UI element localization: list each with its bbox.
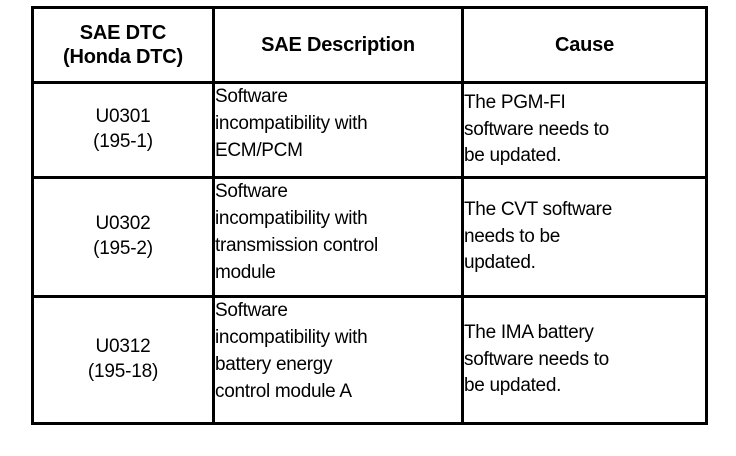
column-header-cause-line-1: Cause (464, 33, 705, 57)
sae-code: U0312 (34, 335, 212, 360)
description-line: battery energy (215, 352, 461, 379)
honda-code: (195-1) (34, 130, 212, 155)
table-header: SAE DTC (Honda DTC) SAE Description Caus… (33, 8, 707, 83)
table-body: U0301 (195-1) Software incompatibility w… (33, 83, 707, 424)
description-line: transmission control (215, 233, 461, 260)
sae-dtc-table: SAE DTC (Honda DTC) SAE Description Caus… (31, 6, 708, 425)
cause-line: software needs to (464, 347, 705, 374)
column-header-sae-description: SAE Description (214, 8, 463, 83)
description-line: incompatibility with (215, 111, 461, 138)
table-row: U0302 (195-2) Software incompatibility w… (33, 178, 707, 297)
cell-sae-description: Software incompatibility with ECM/PCM (214, 83, 463, 178)
description-line: incompatibility with (215, 325, 461, 352)
column-header-sae-dtc-line-1: SAE DTC (34, 21, 212, 45)
honda-code: (195-2) (34, 237, 212, 262)
cell-sae-dtc: U0312 (195-18) (33, 297, 214, 424)
cause-line: The CVT software (464, 197, 705, 224)
cell-sae-description: Software incompatibility with transmissi… (214, 178, 463, 297)
sae-code: U0302 (34, 212, 212, 237)
description-line: module (215, 260, 461, 287)
dtc-table-container: SAE DTC (Honda DTC) SAE Description Caus… (31, 6, 705, 422)
column-header-sae-description-line-1: SAE Description (215, 33, 461, 57)
table-header-row: SAE DTC (Honda DTC) SAE Description Caus… (33, 8, 707, 83)
cause-line: be updated. (464, 373, 705, 400)
table-row: U0312 (195-18) Software incompatibility … (33, 297, 707, 424)
description-line: incompatibility with (215, 206, 461, 233)
cell-sae-dtc: U0302 (195-2) (33, 178, 214, 297)
column-header-sae-dtc: SAE DTC (Honda DTC) (33, 8, 214, 83)
cell-cause: The PGM-FI software needs to be updated. (463, 83, 707, 178)
cause-line: The IMA battery (464, 320, 705, 347)
sae-code: U0301 (34, 105, 212, 130)
cell-sae-description: Software incompatibility with battery en… (214, 297, 463, 424)
description-line: Software (215, 298, 461, 325)
cell-sae-dtc: U0301 (195-1) (33, 83, 214, 178)
cause-line: The PGM-FI (464, 90, 705, 117)
description-line: ECM/PCM (215, 138, 461, 165)
description-line: Software (215, 179, 461, 206)
cause-line: updated. (464, 250, 705, 277)
cell-cause: The CVT software needs to be updated. (463, 178, 707, 297)
cause-line: needs to be (464, 224, 705, 251)
cause-line: software needs to (464, 117, 705, 144)
description-line: Software (215, 84, 461, 111)
column-header-cause: Cause (463, 8, 707, 83)
table-row: U0301 (195-1) Software incompatibility w… (33, 83, 707, 178)
honda-code: (195-18) (34, 360, 212, 385)
cause-line: be updated. (464, 143, 705, 170)
cell-cause: The IMA battery software needs to be upd… (463, 297, 707, 424)
column-header-sae-dtc-line-2: (Honda DTC) (34, 45, 212, 69)
description-line: control module A (215, 379, 461, 406)
